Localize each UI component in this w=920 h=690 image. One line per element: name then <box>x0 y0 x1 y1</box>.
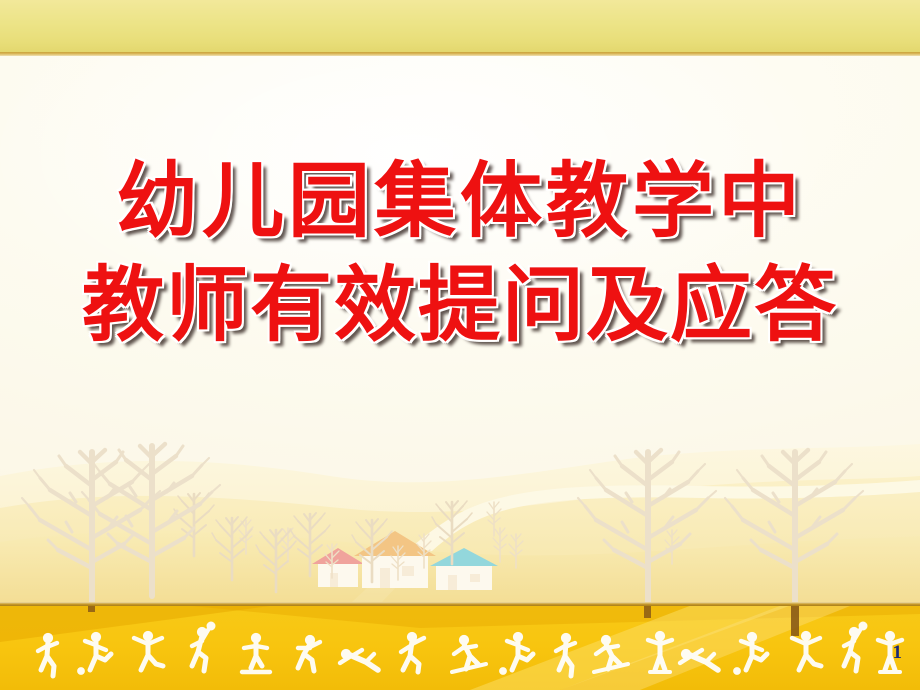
page-number: 1 <box>893 642 903 664</box>
header-banner <box>0 0 920 52</box>
header-banner-rule <box>0 52 920 56</box>
footer-band <box>0 602 920 690</box>
slide-canvas: 教育就是与孩子一起感受幸福、创造幸福 幼儿园集体教学中 教师有效提问及应答 <box>0 0 920 690</box>
landscape-illustration <box>0 56 920 602</box>
footer-band-rule <box>0 602 920 606</box>
